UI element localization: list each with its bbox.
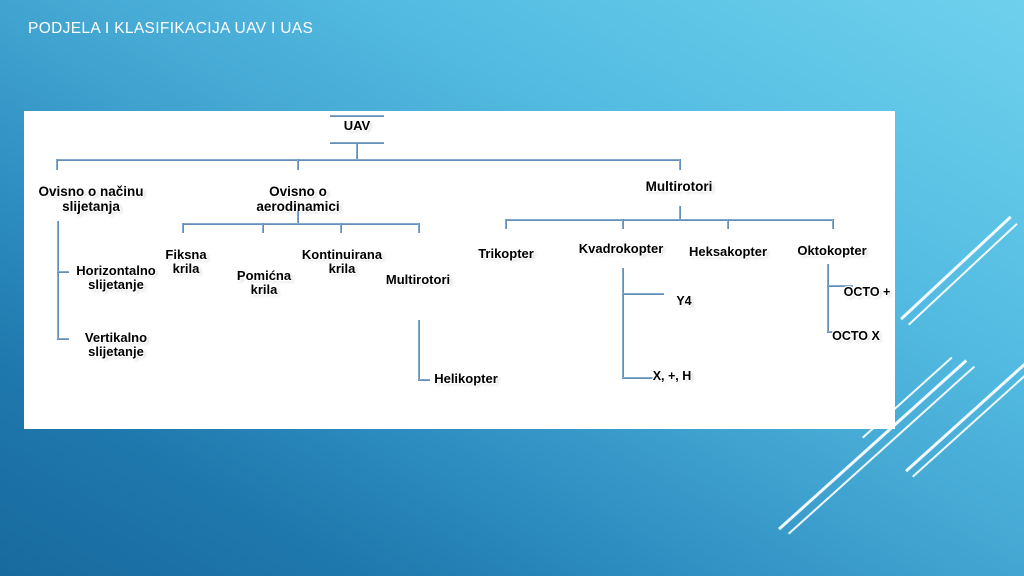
decorative-diagonal-line — [912, 358, 1024, 477]
connector-kvadrokopter-spine — [622, 268, 624, 379]
node-fiksna-krila: Fiksna krila — [157, 248, 215, 276]
connector-kvadrokopter-stub-y4 — [622, 293, 664, 295]
node-kontinuirana-krila: Kontinuirana krila — [296, 248, 388, 276]
connector-multirotor-drop-heksakopter — [727, 219, 729, 229]
node-heksakopter: Heksakopter — [677, 245, 779, 259]
connector-aero-drop — [297, 211, 299, 223]
slide-title: PODJELA I KLASIFIKACIJA UAV I UAS — [28, 20, 313, 38]
connector-aero-drop-kontinuirana — [340, 223, 342, 233]
node-multirotori: Multirotori — [624, 180, 734, 195]
node-pomicna-krila: Pomićna krila — [231, 269, 297, 297]
decorative-diagonal-line — [908, 223, 1018, 325]
connector-multirotor-drop-trikopter — [505, 219, 507, 229]
connector-level1-drop-aero — [297, 159, 299, 170]
node-y4: Y4 — [662, 295, 706, 309]
node-ovisno-o-nacinu-slijetanja: Ovisno o načinu slijetanja — [24, 185, 158, 214]
node-octo-plus: OCTO + — [831, 286, 903, 300]
node-octo-x: OCTO X — [820, 330, 892, 344]
diagram-content-box: UAV Ovisno o načinu slijetanja Ovisno o … — [24, 111, 895, 429]
connector-aero-drop-multirotori — [418, 223, 420, 233]
connector-oktokopter-spine — [827, 264, 829, 332]
connector-multirotor-drop-oktokopter — [832, 219, 834, 229]
connector-aero-drop-pomicna — [262, 223, 264, 233]
connector-helikopter-spine — [418, 320, 420, 379]
connector-aero-drop-fiksna — [182, 223, 184, 233]
node-horizontalno-slijetanje: Horizontalno slijetanje — [66, 264, 166, 292]
connector-root-drop — [356, 144, 358, 160]
node-x-plus-h: X, +, H — [638, 370, 706, 384]
connector-level1-drop-multirotor — [679, 159, 681, 170]
connector-landing-spine — [57, 221, 59, 338]
node-kvadrokopter: Kvadrokopter — [566, 242, 676, 256]
connector-multirotor-drop — [679, 206, 681, 219]
slide-canvas: PODJELA I KLASIFIKACIJA UAV I UAS UAV Ov… — [0, 0, 1024, 576]
connector-multirotor-bus — [505, 219, 834, 221]
decorative-diagonal-line — [900, 216, 1012, 320]
decorative-diagonal-line — [905, 350, 1024, 473]
connector-root-top — [330, 115, 384, 117]
connector-level1-bus — [56, 159, 681, 161]
node-aero-multirotori: Multirotori — [376, 273, 460, 287]
node-trikopter: Trikopter — [464, 247, 548, 261]
node-helikopter: Helikopter — [428, 372, 504, 386]
node-uav: UAV — [334, 119, 380, 133]
node-vertikalno-slijetanje: Vertikalno slijetanje — [68, 331, 164, 359]
node-ovisno-o-aerodinamici: Ovisno o aerodinamici — [239, 185, 357, 214]
connector-aero-bus — [182, 223, 418, 225]
connector-multirotor-drop-kvadrokopter — [622, 219, 624, 229]
node-oktokopter: Oktokopter — [781, 244, 883, 258]
connector-level1-drop-landing — [56, 159, 58, 170]
